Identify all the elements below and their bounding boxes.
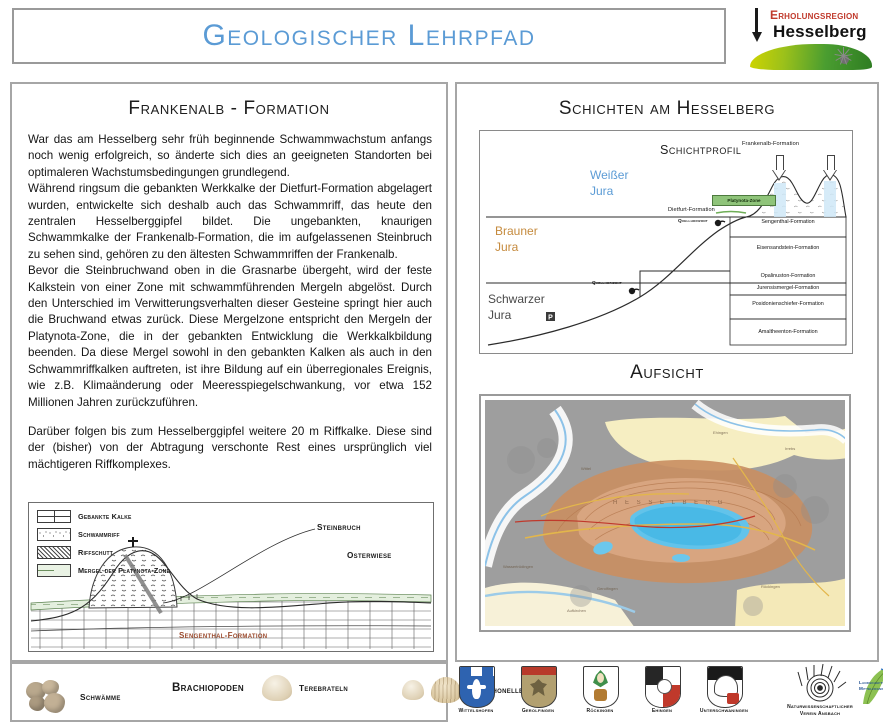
arrow-down-icon-1 [772,155,786,181]
svg-text:P: P [548,315,553,322]
platynota-zone-band: Platynota-Zone [712,195,776,206]
formation-label-jurensismergel: Jurensismergel-Formation [730,285,846,291]
fossil-label: Terebrateln [299,683,348,693]
formation-label-sengenthal: Sengenthal-Formation [730,219,846,225]
paragraph-1: War das am Hesselberg sehr früh beginnen… [28,132,432,181]
label-steinbruch: Steinbruch [317,523,361,532]
cross-section-diagram: Gebankte Kalke Schwammriff Riffschutt Me… [28,502,434,652]
legend-swatch-schwammriff-icon [37,528,71,541]
left-panel-title: Frankenalb - Formation [12,98,446,120]
paragraph-4: Darüber folgen bis zum Hesselberggipfel … [28,424,432,473]
legend-item: Riffschutt [37,545,227,560]
arrow-down-icon-2 [823,155,837,181]
label-sengenthal-formation: Sengenthal-Formation [179,631,267,640]
logo-line1: Erholungsregion [770,8,858,22]
poster-page: Geologischer Lehrpfad Erholungsregion He… [0,0,883,726]
svg-text:Röckingen: Röckingen [761,584,780,589]
legend-label: Schwammriff [78,530,120,539]
org-logo-nva: NaturwissenschaftlicherVerein Ansbach [775,664,865,717]
logo-line2: Hesselberg [773,22,867,42]
svg-text:Wassertrüdingen: Wassertrüdingen [503,564,533,569]
fossil-item-schwaemme: Schwämme [26,680,121,714]
label-quellhorizont-upper: Quellhorizont [678,219,708,224]
crest-label: Unterschwaningen [700,708,748,714]
svg-text:Wittel: Wittel [581,466,591,471]
sponge-fossil-icon [26,680,72,714]
left-content-panel: Frankenalb - Formation War das am Hessel… [10,82,448,662]
crest-label: Ehingen [652,708,672,714]
page-header: Geologischer Lehrpfad Erholungsregion He… [0,0,883,76]
right-panel-header: Schichten am Hesselberg [457,98,877,120]
crest-label: Röckingen [587,708,614,714]
formation-label-opalinuston: Opalinuston-Formation [730,273,846,279]
legend-swatch-riffschutt-icon [37,546,71,559]
formation-label-amaltheenton: Amaltheenton-Formation [730,329,846,335]
label-quellhorizont-lower: Quellhorizont [592,281,622,286]
era-label-brauner-jura: BraunerJura [495,223,538,255]
left-panel-header: Frankenalb - Formation [12,98,446,120]
terebratel-shell-icon [262,675,292,701]
legend-item: Mergel der Platynota-Zone [37,563,227,578]
fossil-item-terebrateln: Terebrateln [262,675,348,701]
formation-label-posidonienschiefer: Posidonienschiefer-Formation [730,301,846,307]
svg-text:Irrebs: Irrebs [785,446,795,451]
org-label: LandschaftspflegeverbandMittelfranken [859,680,883,692]
crest-wittelshofen: Wittelshofen [459,666,493,706]
legend-label: Mergel der Platynota-Zone [78,566,170,575]
sponsor-logo-row: Wittelshofen Gerolfingen Röckingen [455,662,875,720]
aufsicht-header: Aufsicht [457,362,877,384]
fossil-strip: Schwämme Brachiopoden Terebrateln Rhynch… [10,662,448,722]
legend-label: Riffschutt [78,548,113,557]
crest-roeckingen: Röckingen [583,666,617,706]
legend-label: Gebankte Kalke [78,512,132,521]
cross-section-legend: Gebankte Kalke Schwammriff Riffschutt Me… [37,509,227,581]
flower-icon [828,44,862,74]
fossil-item-brachiopoden: Brachiopoden [172,681,244,694]
platynota-zone-label: Platynota-Zone [713,196,775,205]
era-label-weisser-jura: WeißerJura [590,167,628,199]
geological-map[interactable]: Wassertrüdingen Gerolfingen Aufkirchen E… [485,400,845,626]
page-title: Geologischer Lehrpfad [202,19,535,53]
org-label: NaturwissenschaftlicherVerein Ansbach [775,704,865,717]
svg-text:H E S S E L B E R G: H E S S E L B E R G [613,500,725,506]
fossil-label: Brachiopoden [172,681,244,694]
legend-swatch-gebankte-kalke-icon [37,510,71,523]
aufsicht-title: Aufsicht [457,362,877,384]
crest-label: Wittelshofen [459,708,494,714]
fossil-label: Schwämme [80,692,121,702]
ammonite-icon [792,664,848,704]
crest-unterschwaningen: Unterschwaningen [707,666,741,706]
geological-map-drawing: Wassertrüdingen Gerolfingen Aufkirchen E… [485,400,845,626]
svg-text:Ehingen: Ehingen [713,430,728,435]
rhynchonella-shell-icon-a [402,680,424,700]
right-content-panel: Schichten am Hesselberg [455,82,879,662]
crest-label: Gerolfingen [522,708,554,714]
schichtprofil-title: Schichtprofil [660,143,741,157]
label-frankenalb-formation: Frankenalb-Formation [742,141,799,147]
right-panel-title: Schichten am Hesselberg [457,98,877,120]
svg-text:Aufkirchen: Aufkirchen [567,608,586,613]
article-text: War das am Hesselberg sehr früh beginnen… [28,132,432,473]
org-logo-lpv: LandschaftspflegeverbandMittelfranken [859,664,883,706]
legend-item: Gebankte Kalke [37,509,227,524]
aufsicht-map-frame[interactable]: Wassertrüdingen Gerolfingen Aufkirchen E… [479,394,851,632]
paragraph-2: Während ringsum die gebankten Werkkalke … [28,181,432,263]
legend-item: Schwammriff [37,527,227,542]
schichtprofil-diagram: P Schichtprofil WeißerJura BraunerJura S… [479,130,853,354]
label-dietfurt-formation: Dietfurt-Formation [668,207,715,213]
crest-gerolfingen: Gerolfingen [521,666,555,706]
legend-swatch-mergel-icon [37,564,71,577]
title-box: Geologischer Lehrpfad [12,8,726,64]
label-osterwiese: Osterwiese [347,551,392,560]
hesselberg-logo: Erholungsregion Hesselberg [742,2,877,74]
crest-ehingen: Ehingen [645,666,679,706]
era-label-schwarzer-jura: SchwarzerJura [488,291,545,323]
formation-label-eisensandstein: Eisensandstein-Formation [730,245,846,251]
svg-text:Gerolfingen: Gerolfingen [597,586,618,591]
paragraph-3: Bevor die Steinbruchwand oben in die Gra… [28,263,432,411]
